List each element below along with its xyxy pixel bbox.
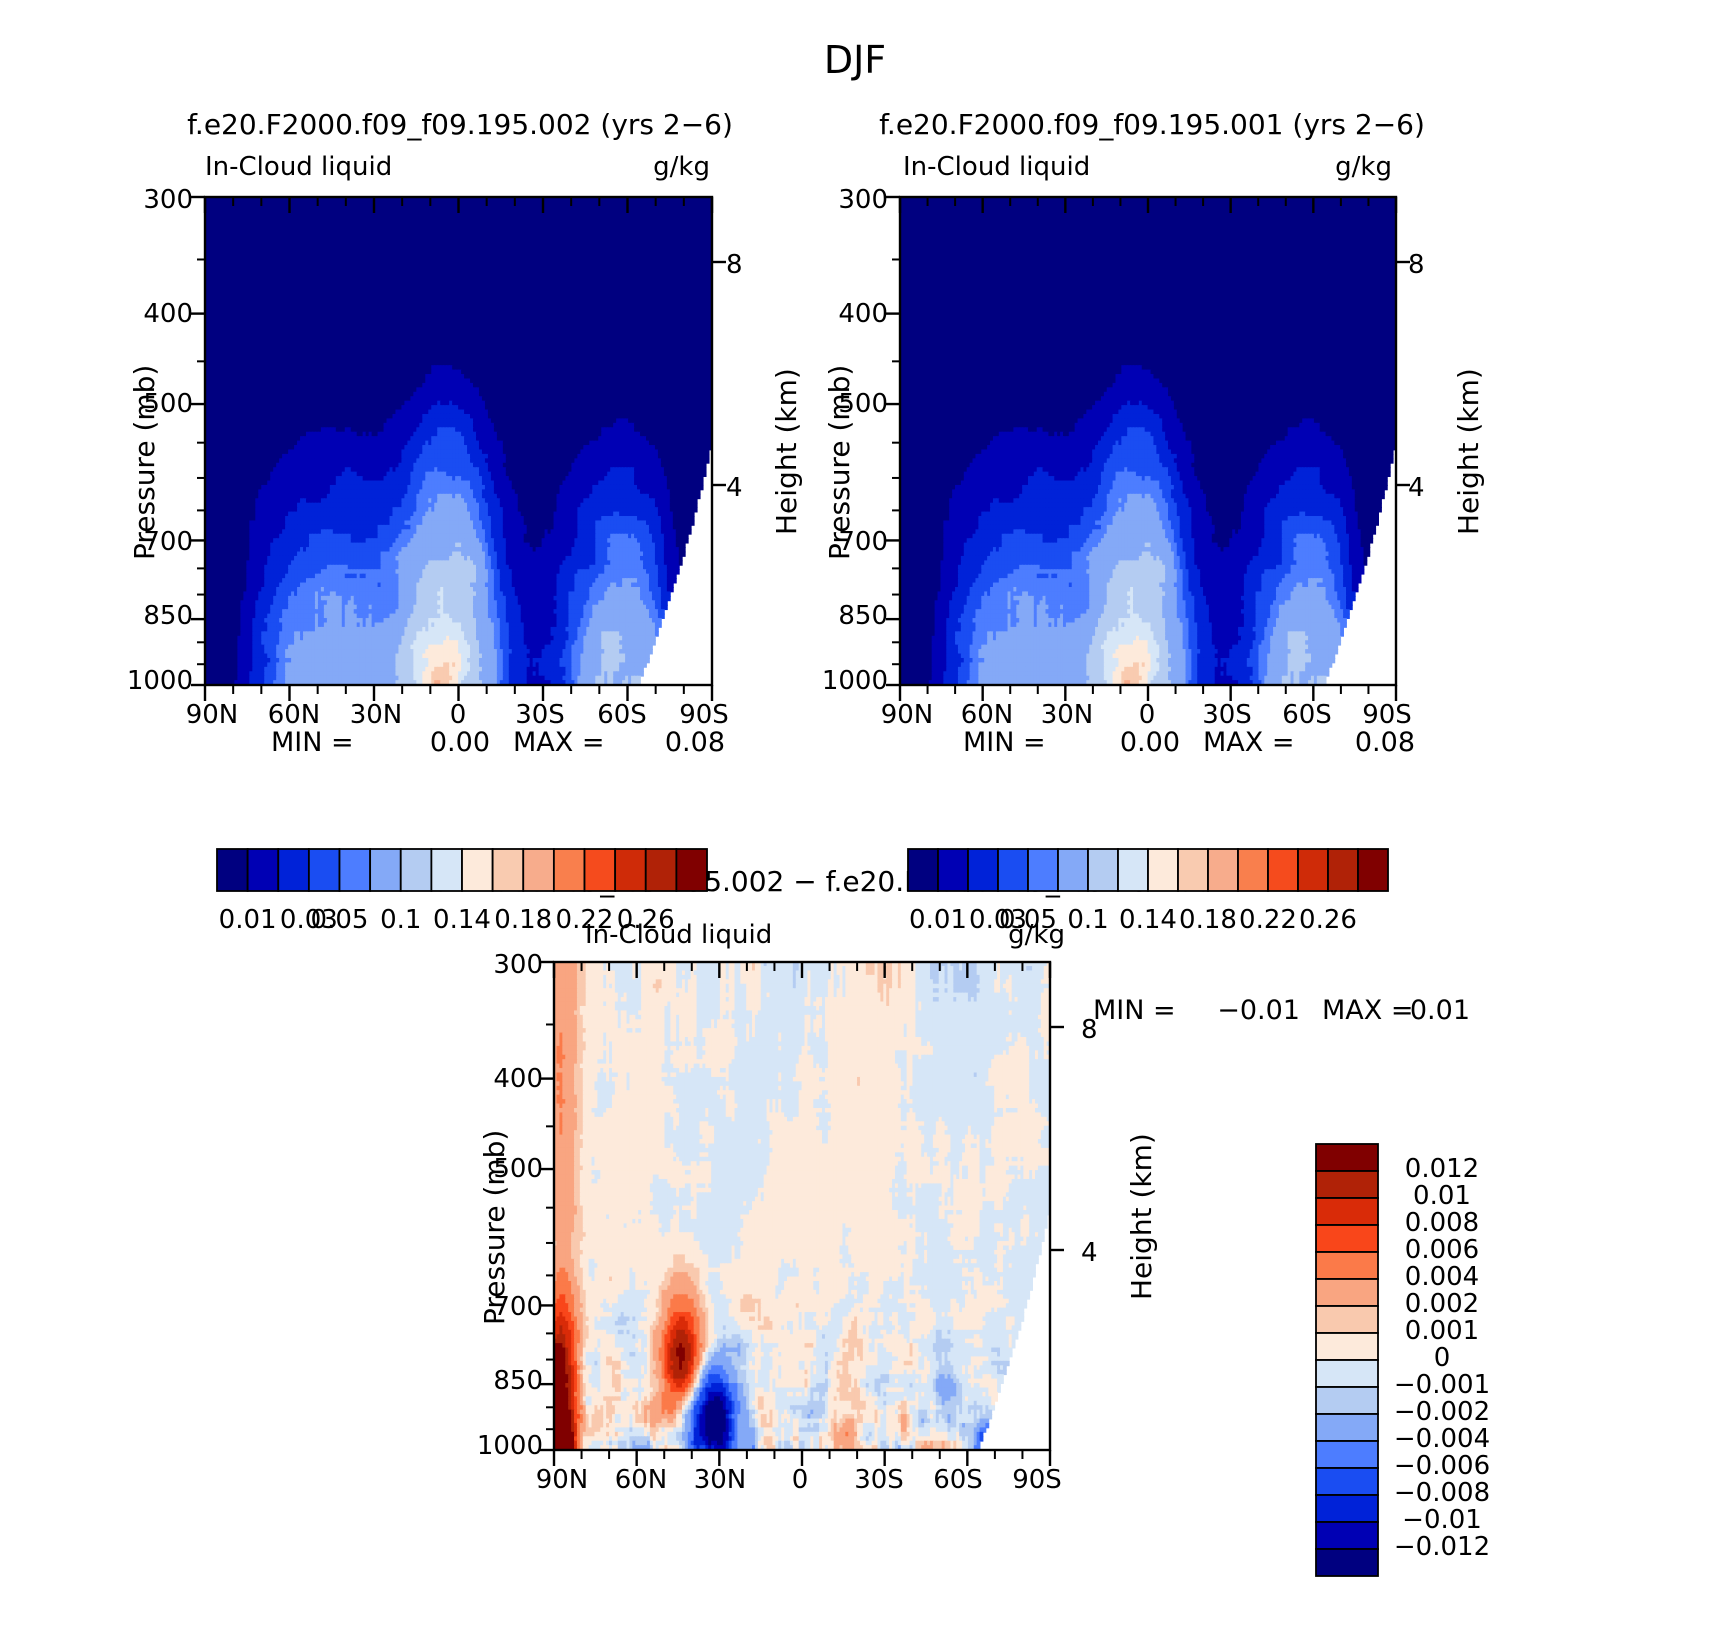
right-colorbar-tick-7: 0.26 xyxy=(1299,905,1357,935)
diff-colorbar-tick-1: 0.01 xyxy=(1413,1181,1471,1211)
diff-colorbar-tick-12: −0.008 xyxy=(1394,1478,1490,1508)
right-colorbar-tick-2: 0.05 xyxy=(999,905,1057,935)
diff-colorbar-tick-9: −0.002 xyxy=(1394,1397,1490,1427)
right-colorbar-tick-0: 0.01 xyxy=(909,905,967,935)
left-colorbar-tick-0: 0.01 xyxy=(219,905,277,935)
left-colorbar-tick-4: 0.14 xyxy=(433,905,491,935)
diff-colorbar-tick-7: 0 xyxy=(1434,1343,1451,1373)
left-colorbar-tick-3: 0.1 xyxy=(380,905,421,935)
right-colorbar-tick-5: 0.18 xyxy=(1179,905,1237,935)
left-colorbar-tick-7: 0.26 xyxy=(617,905,675,935)
diff-colorbar-tick-4: 0.004 xyxy=(1405,1262,1479,1292)
left-colorbar-tick-2: 0.05 xyxy=(311,905,369,935)
diff-colorbar-tick-2: 0.008 xyxy=(1405,1208,1479,1238)
diff-colorbar-tick-8: −0.001 xyxy=(1394,1370,1490,1400)
diff-colorbar-tick-13: −0.01 xyxy=(1402,1505,1482,1535)
right-colorbar-tick-4: 0.14 xyxy=(1119,905,1177,935)
left-colorbar-tick-5: 0.18 xyxy=(494,905,552,935)
diff-colorbar-tick-3: 0.006 xyxy=(1405,1235,1479,1265)
figure-canvas: DJF f.e20.F2000.f09_f09.195.002 (yrs 2−6… xyxy=(0,0,1710,1636)
left-colorbar-tick-6: 0.22 xyxy=(556,905,614,935)
diff-colorbar-tick-14: −0.012 xyxy=(1394,1532,1490,1562)
diff-colorbar-tick-11: −0.006 xyxy=(1394,1451,1490,1481)
diff-colorbar-tick-5: 0.002 xyxy=(1405,1289,1479,1319)
right-colorbar-tick-6: 0.22 xyxy=(1239,905,1297,935)
diff-colorbar-tick-6: 0.001 xyxy=(1405,1316,1479,1346)
diff-colorbar-tick-0: 0.012 xyxy=(1405,1154,1479,1184)
right-colorbar-tick-3: 0.1 xyxy=(1067,905,1108,935)
diff-colorbar-tick-10: −0.004 xyxy=(1394,1424,1490,1454)
